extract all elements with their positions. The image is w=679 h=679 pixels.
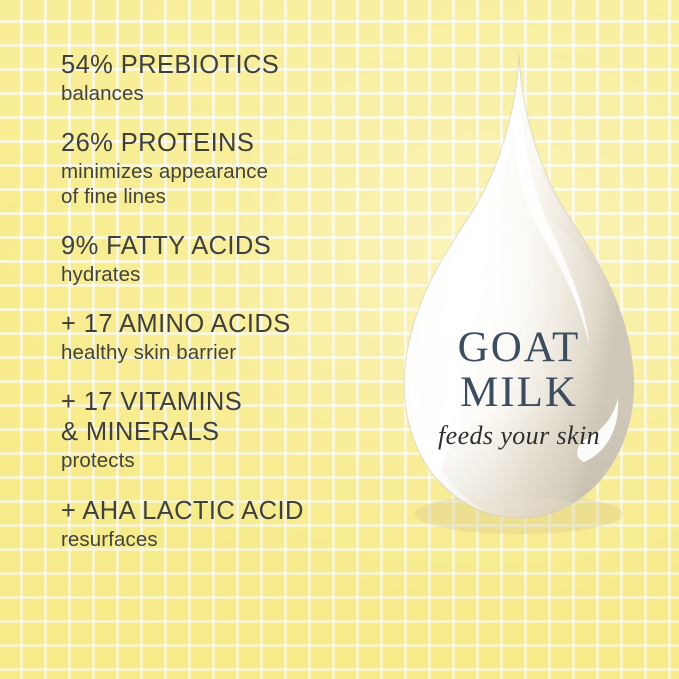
milk-droplet-graphic: GOAT MILK feeds your skin: [388, 48, 650, 548]
list-item: + AHA LACTIC ACID resurfaces: [61, 496, 381, 552]
list-item: 9% FATTY ACIDS hydrates: [61, 231, 381, 287]
ingredient-headline: + 17 VITAMINS & MINERALS: [61, 387, 381, 447]
ingredient-headline: 9% FATTY ACIDS: [61, 231, 381, 261]
product-infographic: 54% PREBIOTICS balances 26% PROTEINS min…: [0, 0, 679, 679]
ingredient-headline: 54% PREBIOTICS: [61, 50, 381, 80]
droplet-icon: [388, 48, 650, 548]
ingredient-headline: + 17 AMINO ACIDS: [61, 309, 381, 339]
list-item: + 17 AMINO ACIDS healthy skin barrier: [61, 309, 381, 365]
ingredient-benefit: balances: [61, 82, 381, 106]
ingredient-benefit: hydrates: [61, 263, 381, 287]
ingredient-benefit: minimizes appearance of fine lines: [61, 160, 381, 208]
ingredient-benefit: protects: [61, 449, 381, 473]
ingredient-list: 54% PREBIOTICS balances 26% PROTEINS min…: [61, 50, 381, 552]
list-item: 54% PREBIOTICS balances: [61, 50, 381, 106]
ingredient-headline: 26% PROTEINS: [61, 128, 381, 158]
ingredient-headline: + AHA LACTIC ACID: [61, 496, 381, 526]
list-item: 26% PROTEINS minimizes appearance of fin…: [61, 128, 381, 208]
list-item: + 17 VITAMINS & MINERALS protects: [61, 387, 381, 473]
ingredient-benefit: healthy skin barrier: [61, 341, 381, 365]
ingredient-benefit: resurfaces: [61, 528, 381, 552]
